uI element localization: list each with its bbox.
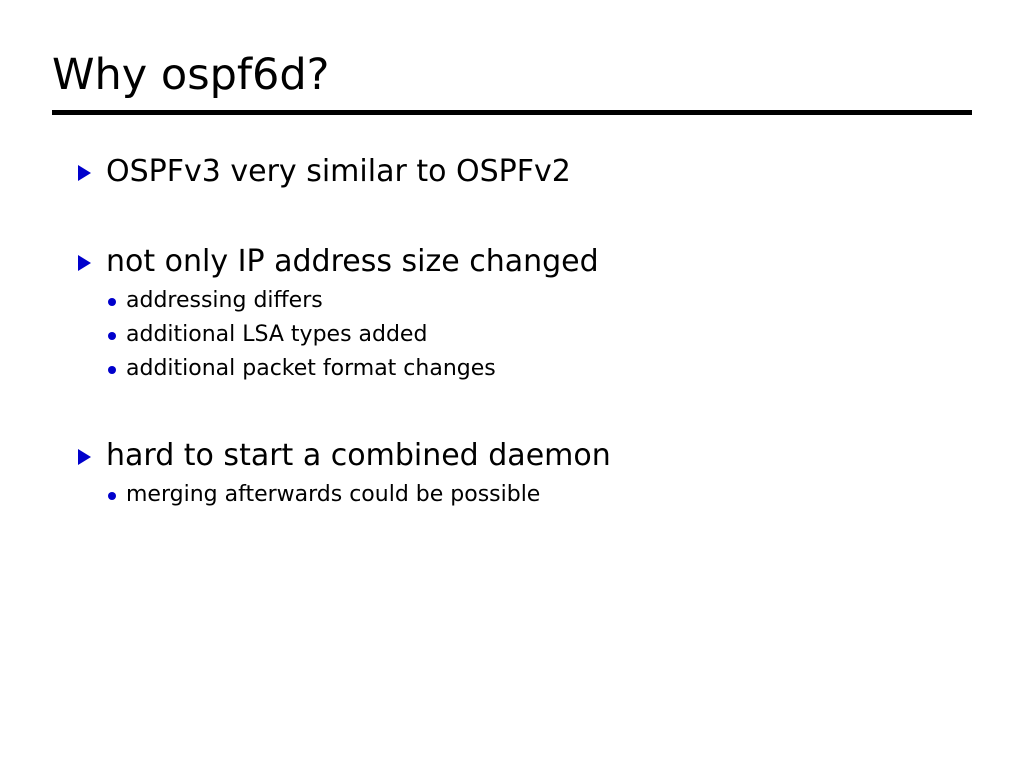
dot-icon xyxy=(108,492,116,500)
dot-icon xyxy=(108,332,116,340)
sub-bullet-list: addressing differs additional LSA types … xyxy=(106,284,982,386)
triangle-right-icon xyxy=(78,449,91,465)
bullet-text: OSPFv3 very similar to OSPFv2 xyxy=(106,152,982,192)
list-item: hard to start a combined daemon merging … xyxy=(52,436,982,512)
dot-icon xyxy=(108,366,116,374)
triangle-right-icon xyxy=(78,165,91,181)
list-item: additional packet format changes xyxy=(106,352,982,386)
list-item: addressing differs xyxy=(106,284,982,318)
list-item: OSPFv3 very similar to OSPFv2 xyxy=(52,152,982,192)
title-underline-rule xyxy=(52,110,972,115)
slide-body: OSPFv3 very similar to OSPFv2 not only I… xyxy=(52,152,982,512)
list-item: not only IP address size changed address… xyxy=(52,242,982,386)
page-title: Why ospf6d? xyxy=(52,48,972,102)
bullet-text: not only IP address size changed xyxy=(106,242,982,282)
list-item: additional LSA types added xyxy=(106,318,982,352)
sub-bullet-list: merging afterwards could be possible xyxy=(106,478,982,512)
presentation-slide: Why ospf6d? OSPFv3 very similar to OSPFv… xyxy=(0,0,1024,768)
list-item: merging afterwards could be possible xyxy=(106,478,982,512)
bullet-text: hard to start a combined daemon xyxy=(106,436,982,476)
bullet-list: OSPFv3 very similar to OSPFv2 not only I… xyxy=(52,152,982,512)
sub-bullet-text: additional LSA types added xyxy=(126,318,982,352)
sub-bullet-text: addressing differs xyxy=(126,284,982,318)
slide-title-block: Why ospf6d? xyxy=(52,48,972,115)
sub-bullet-text: additional packet format changes xyxy=(126,352,982,386)
triangle-right-icon xyxy=(78,255,91,271)
sub-bullet-text: merging afterwards could be possible xyxy=(126,478,982,512)
dot-icon xyxy=(108,298,116,306)
